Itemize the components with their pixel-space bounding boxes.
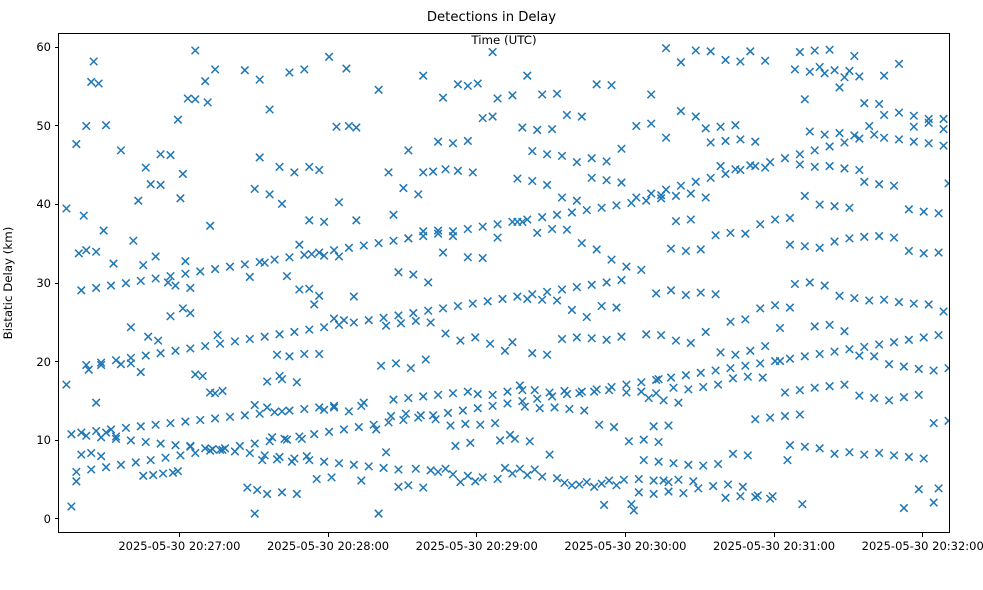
scatter-point — [167, 151, 175, 159]
scatter-point — [543, 151, 551, 159]
scatter-point — [80, 212, 88, 220]
scatter-point — [92, 284, 100, 292]
scatter-point — [296, 241, 304, 249]
scatter-point — [588, 335, 596, 343]
scatter-point — [603, 176, 611, 184]
scatter-point — [444, 409, 452, 417]
scatter-point — [439, 305, 447, 313]
scatter-point — [434, 138, 442, 146]
scatter-point — [665, 422, 673, 430]
scatter-point — [558, 335, 566, 343]
scatter-point — [296, 286, 304, 294]
scatter-point — [692, 113, 700, 121]
scatter-point — [846, 346, 854, 354]
scatter-point — [682, 291, 690, 299]
x-tick-mark — [179, 533, 180, 537]
scatter-point — [553, 474, 561, 482]
scatter-point — [301, 251, 309, 259]
scatter-point — [412, 317, 420, 325]
scatter-point — [286, 353, 294, 361]
scatter-point — [618, 333, 626, 341]
scatter-point — [419, 232, 427, 240]
scatter-point — [707, 174, 715, 182]
scatter-point — [546, 389, 554, 397]
scatter-point — [201, 77, 209, 85]
scatter-point — [419, 393, 427, 401]
scatter-point — [709, 482, 717, 490]
scatter-point — [737, 136, 745, 144]
scatter-point — [816, 350, 824, 358]
scatter-point — [449, 390, 457, 398]
scatter-point — [415, 414, 423, 422]
scatter-point — [139, 261, 147, 269]
scatter-point — [533, 126, 541, 134]
scatter-point — [647, 190, 655, 198]
scatter-point — [846, 235, 854, 243]
scatter-point — [781, 412, 789, 420]
x-axis: 2025-05-30 20:27:002025-05-30 20:28:0020… — [0, 533, 983, 590]
scatter-point — [851, 294, 859, 302]
scatter-point — [717, 162, 725, 170]
scatter-point — [786, 355, 794, 363]
scatter-point — [598, 302, 606, 310]
scatter-point — [722, 170, 730, 178]
scatter-point — [784, 456, 792, 464]
scatter-point — [841, 139, 849, 147]
scatter-point — [92, 399, 100, 407]
scatter-point — [816, 63, 824, 71]
scatter-point — [650, 490, 658, 498]
scatter-point — [182, 418, 190, 426]
scatter-point — [489, 391, 497, 399]
scatter-point — [578, 113, 586, 121]
scatter-point — [875, 341, 883, 349]
scatter-point — [442, 165, 450, 173]
scatter-point — [581, 407, 589, 415]
scatter-point — [419, 169, 427, 177]
scatter-point — [291, 455, 299, 463]
scatter-point — [286, 254, 294, 262]
scatter-point — [211, 66, 219, 74]
scatter-point — [685, 386, 693, 394]
scatter-point — [638, 388, 646, 396]
scatter-point — [256, 76, 264, 84]
scatter-point — [796, 151, 804, 159]
scatter-point — [548, 225, 556, 233]
scatter-point — [796, 411, 804, 419]
scatter-point — [766, 414, 774, 422]
scatter-point — [660, 397, 668, 405]
scatter-point — [382, 322, 390, 330]
scatter-point — [561, 479, 569, 487]
scatter-point — [87, 449, 95, 457]
scatter-point — [330, 246, 338, 254]
scatter-point — [836, 129, 844, 137]
scatter-point — [320, 323, 328, 331]
x-tick-mark — [774, 533, 775, 537]
scatter-point — [826, 143, 834, 151]
scatter-point — [699, 383, 707, 391]
scatter-point — [278, 408, 286, 416]
scatter-point — [496, 437, 504, 445]
scatter-point — [655, 458, 663, 466]
scatter-point — [464, 225, 472, 233]
scatter-point — [303, 452, 311, 460]
scatter-point — [464, 254, 472, 262]
scatter-point — [434, 468, 442, 476]
scatter-point — [742, 230, 750, 238]
scatter-point — [756, 305, 764, 313]
scatter-point — [390, 237, 398, 245]
y-tick-label: 30 — [36, 275, 51, 291]
scatter-point — [83, 122, 91, 130]
scatter-point — [640, 456, 648, 464]
scatter-point — [650, 423, 658, 431]
scatter-point — [192, 96, 200, 104]
scatter-point — [776, 324, 784, 332]
scatter-point — [699, 462, 707, 470]
scatter-point — [87, 466, 95, 474]
scatter-point — [920, 250, 928, 258]
scatter-point — [595, 421, 603, 429]
scatter-point — [677, 59, 685, 67]
scatter-point — [890, 452, 898, 460]
scatter-point — [645, 394, 653, 402]
scatter-point — [122, 424, 129, 432]
scatter-point — [811, 163, 819, 171]
scatter-point — [405, 482, 413, 490]
scatter-point — [841, 327, 849, 335]
scatter-point — [744, 373, 752, 381]
scatter-point — [263, 378, 271, 386]
scatter-point — [806, 128, 814, 136]
scatter-point — [786, 241, 794, 249]
scatter-point — [365, 463, 373, 471]
scatter-point — [179, 305, 187, 313]
scatter-point — [573, 283, 581, 291]
scatter-point — [320, 218, 328, 226]
scatter-point — [504, 400, 512, 408]
scatter-point — [278, 200, 286, 208]
scatter-point — [315, 350, 323, 358]
scatter-point — [756, 221, 764, 229]
scatter-point — [920, 455, 928, 463]
scatter-point — [865, 122, 873, 130]
scatter-point — [737, 493, 745, 501]
scatter-point — [447, 422, 455, 430]
x-tick-mark — [625, 533, 626, 537]
scatter-point — [432, 415, 440, 423]
scatter-point — [786, 441, 794, 449]
scatter-point — [137, 277, 145, 285]
scatter-point — [387, 412, 395, 420]
scatter-point — [712, 290, 720, 298]
scatter-point — [283, 272, 291, 280]
scatter-point — [727, 229, 735, 237]
scatter-point — [157, 349, 165, 357]
scatter-point — [439, 249, 447, 256]
scatter-point — [390, 211, 398, 219]
scatter-point — [714, 381, 722, 389]
scatter-point — [117, 461, 125, 469]
scatter-point — [831, 238, 839, 246]
scatter-point — [608, 256, 616, 264]
scatter-point — [385, 419, 393, 427]
scatter-point — [333, 123, 341, 130]
scatter-point — [905, 336, 913, 344]
scatter-point — [489, 48, 497, 56]
scatter-point — [861, 451, 869, 459]
scatter-point — [905, 247, 913, 255]
scatter-point — [97, 434, 105, 442]
scatter-point — [335, 460, 343, 468]
scatter-point — [573, 334, 581, 342]
scatter-point — [756, 360, 764, 368]
scatter-point — [154, 337, 162, 345]
scatter-point — [613, 482, 621, 490]
scatter-point — [174, 116, 182, 124]
scatter-point — [315, 166, 323, 174]
scatter-point — [687, 190, 695, 198]
scatter-point — [563, 226, 571, 234]
scatter-point — [806, 68, 814, 76]
scatter-point — [385, 169, 393, 177]
scatter-point — [558, 194, 566, 202]
scatter-point — [816, 244, 824, 252]
scatter-point — [474, 390, 482, 398]
scatter-point — [276, 372, 284, 380]
scatter-point — [652, 390, 660, 398]
scatter-point — [484, 298, 492, 306]
scatter-point — [727, 318, 735, 326]
scatter-point — [680, 489, 688, 497]
scatter-point — [276, 163, 284, 171]
scatter-point — [429, 168, 437, 176]
scatter-point — [593, 386, 601, 394]
scatter-point — [910, 138, 918, 146]
scatter-point — [382, 448, 390, 456]
scatter-point — [895, 136, 903, 144]
scatter-point — [184, 95, 192, 103]
scatter-point — [83, 246, 91, 254]
scatter-point — [890, 234, 898, 242]
scatter-point — [722, 137, 730, 145]
scatter-point — [801, 192, 809, 200]
scatter-point — [742, 362, 750, 370]
scatter-point — [598, 204, 606, 212]
scatter-point — [135, 197, 143, 205]
scatter-point — [167, 419, 175, 427]
scatter-point — [588, 154, 596, 162]
scatter-point — [861, 233, 869, 241]
scatter-point — [543, 351, 551, 359]
scatter-point — [856, 352, 864, 360]
scatter-point — [325, 53, 333, 61]
scatter-point — [472, 334, 480, 342]
scatter-point — [454, 81, 462, 89]
scatter-point — [786, 214, 794, 222]
scatter-point — [692, 178, 700, 186]
scatter-point — [831, 202, 839, 210]
scatter-point — [841, 381, 849, 389]
x-axis-label: Time (UTC) — [58, 32, 950, 48]
scatter-point — [940, 308, 948, 316]
scatter-point — [935, 249, 943, 256]
scatter-point — [744, 452, 752, 460]
scatter-point — [593, 246, 601, 254]
y-tick-mark — [55, 518, 59, 519]
scatter-point — [930, 367, 938, 375]
scatter-point — [610, 423, 618, 431]
scatter-point — [940, 125, 948, 133]
scatter-point — [920, 208, 928, 216]
scatter-point — [405, 235, 413, 243]
scatter-point — [353, 217, 361, 225]
scatter-point — [179, 170, 187, 178]
scatter-point — [499, 295, 507, 303]
scatter-point — [127, 323, 135, 331]
scatter-point — [246, 335, 254, 343]
scatter-point — [271, 408, 279, 416]
scatter-point — [355, 423, 363, 431]
scatter-point — [578, 239, 586, 247]
scatter-point — [529, 147, 537, 155]
scatter-point — [526, 437, 534, 445]
scatter-point — [400, 416, 408, 424]
scatter-point — [144, 333, 152, 341]
scatter-point — [256, 154, 264, 162]
scatter-point — [345, 244, 353, 252]
scatter-point — [623, 381, 631, 389]
scatter-point — [826, 162, 834, 170]
scatter-point — [747, 347, 755, 355]
scatter-point — [167, 312, 175, 320]
scatter-point — [811, 147, 819, 155]
scatter-point — [476, 421, 484, 429]
scatter-point — [623, 389, 631, 397]
scatter-point — [717, 123, 725, 130]
scatter-point — [90, 58, 98, 66]
scatter-point — [147, 456, 155, 464]
scatter-point — [915, 391, 923, 399]
scatter-point — [687, 339, 695, 347]
scatter-point — [910, 300, 918, 308]
scatter-point — [905, 206, 913, 214]
scatter-point — [925, 140, 933, 148]
scatter-point — [328, 474, 336, 482]
scatter-point — [533, 229, 541, 237]
scatter-point — [657, 331, 665, 339]
scatter-point — [122, 279, 129, 287]
scatter-point — [875, 232, 883, 240]
scatter-point — [870, 131, 878, 139]
scatter-point — [377, 362, 385, 370]
scatter-point — [216, 340, 224, 348]
scatter-point — [442, 330, 450, 338]
scatter-point — [677, 182, 685, 190]
scatter-point — [667, 245, 675, 253]
scatter-point — [796, 48, 804, 56]
scatter-point — [940, 142, 948, 150]
scatter-point — [501, 347, 509, 355]
scatter-point — [620, 476, 628, 484]
scatter-point — [139, 472, 147, 480]
scatter-point — [395, 483, 403, 491]
scatter-point — [846, 67, 854, 75]
scatter-point — [127, 354, 135, 362]
scatter-point — [702, 328, 710, 336]
scatter-point — [558, 152, 566, 160]
scatter-point — [861, 343, 869, 351]
scatter-point — [821, 131, 829, 139]
scatter-point — [786, 304, 794, 312]
scatter-point — [293, 379, 301, 387]
scatter-point — [816, 445, 824, 453]
scatter-point — [737, 58, 745, 66]
scatter-point — [633, 122, 641, 130]
scatter-point — [771, 301, 779, 309]
scatter-point — [424, 307, 432, 315]
y-tick-label: 20 — [36, 354, 51, 370]
scatter-point — [895, 60, 903, 67]
scatter-point — [885, 360, 893, 368]
scatter-point — [211, 265, 219, 273]
scatter-point — [306, 456, 314, 464]
scatter-point — [142, 164, 150, 172]
scatter-point — [623, 263, 631, 271]
scatter-point — [885, 397, 893, 405]
scatter-point — [504, 388, 512, 396]
scatter-point — [353, 124, 361, 132]
scatter-point — [742, 316, 750, 324]
scatter-point — [491, 419, 499, 427]
scatter-point — [638, 266, 646, 274]
scatter-point — [761, 57, 769, 64]
scatter-point — [752, 493, 760, 501]
scatter-point — [670, 460, 678, 468]
scatter-point — [395, 312, 403, 320]
scatter-point — [182, 257, 190, 265]
scatter-point — [251, 185, 258, 193]
scatter-point — [395, 466, 403, 474]
scatter-point — [538, 91, 546, 99]
scatter-point — [152, 421, 160, 429]
scatter-point — [516, 465, 524, 473]
scatter-point — [244, 484, 252, 492]
scatter-point — [553, 211, 561, 219]
scatter-point — [568, 306, 576, 314]
scatter-point — [590, 483, 598, 491]
scatter-point — [87, 78, 95, 86]
scatter-point — [566, 405, 573, 413]
scatter-point — [286, 407, 294, 415]
scatter-point — [308, 250, 316, 258]
scatter-point — [635, 475, 643, 483]
scatter-point — [640, 436, 648, 444]
scatter-point — [226, 413, 234, 421]
scatter-point — [345, 122, 353, 130]
scatter-point — [204, 99, 212, 107]
scatter-point — [142, 352, 150, 360]
scatter-point — [164, 279, 172, 287]
scatter-point — [182, 270, 190, 278]
scatter-point — [410, 309, 418, 317]
scatter-point — [464, 472, 472, 480]
scatter-point — [214, 331, 222, 339]
scatter-point — [241, 66, 249, 74]
scatter-point — [900, 393, 908, 401]
scatter-point — [449, 140, 457, 148]
